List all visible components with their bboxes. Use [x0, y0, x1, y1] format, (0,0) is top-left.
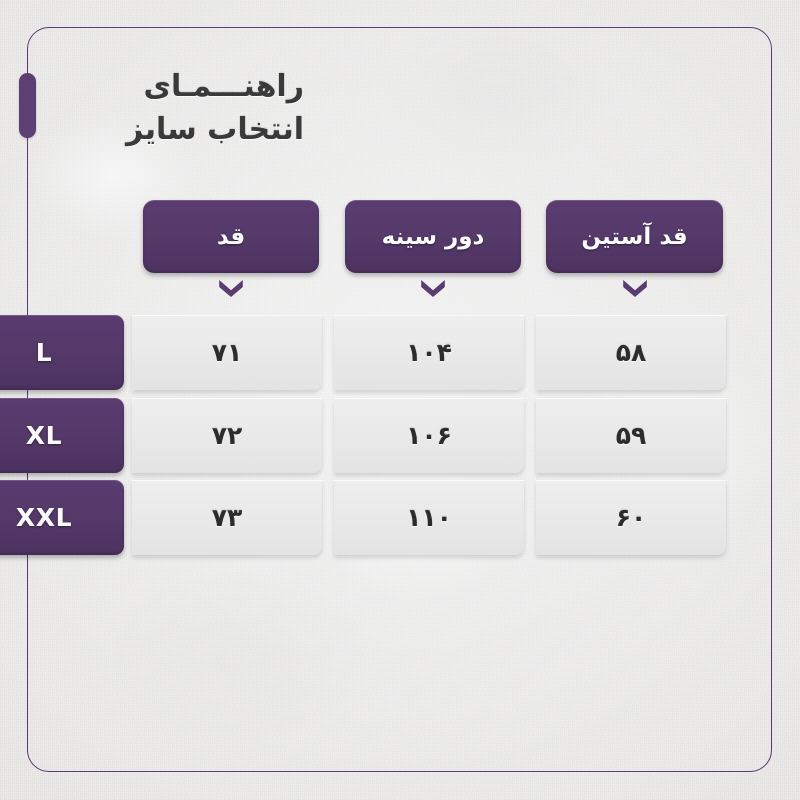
- table-cell: ۱۱۰: [334, 480, 524, 555]
- cell-value: ۷۱: [212, 338, 243, 367]
- column-header-label: قد آستین: [581, 224, 687, 250]
- size-label-text: L: [36, 338, 71, 367]
- size-label-xl: XL: [0, 398, 124, 473]
- cell-value: ۱۰۶: [406, 421, 452, 450]
- size-label-xxl: XXL: [0, 480, 124, 555]
- cell-value: ۷۲: [212, 421, 243, 450]
- chevron-down-icon: [418, 276, 448, 298]
- size-guide-infographic: راهنـــمـای انتخاب سایز قد دور سینه قد آ…: [0, 0, 800, 800]
- cell-value: ۶۰: [616, 503, 647, 532]
- frame-accent-bar: [19, 73, 36, 138]
- column-header-label: قد: [217, 224, 245, 250]
- table-cell: ۶۰: [536, 480, 726, 555]
- table-cell: ۵۹: [536, 398, 726, 473]
- size-label-text: XXL: [16, 503, 90, 532]
- size-label-l: L: [0, 315, 124, 390]
- table-cell: ۷۳: [132, 480, 322, 555]
- column-header-sleeve: قد آستین: [546, 200, 723, 273]
- cell-value: ۵۸: [616, 338, 647, 367]
- table-cell: ۵۸: [536, 315, 726, 390]
- cell-value: ۱۰۴: [406, 338, 452, 367]
- cell-value: ۱۱۰: [406, 503, 452, 532]
- table-cell: ۷۲: [132, 398, 322, 473]
- column-header-length: قد: [143, 200, 319, 273]
- column-header-label: دور سینه: [382, 224, 485, 250]
- table-cell: ۱۰۴: [334, 315, 524, 390]
- page-title-line-1: راهنـــمـای: [126, 66, 304, 109]
- column-header-chest: دور سینه: [345, 200, 521, 273]
- page-title-line-2: انتخاب سایز: [126, 109, 304, 152]
- table-cell: ۷۱: [132, 315, 322, 390]
- chevron-down-icon: [216, 276, 246, 298]
- chevron-down-icon: [620, 276, 650, 298]
- cell-value: ۷۳: [212, 503, 243, 532]
- size-label-text: XL: [26, 421, 80, 450]
- cell-value: ۵۹: [616, 421, 647, 450]
- page-title: راهنـــمـای انتخاب سایز: [126, 66, 304, 151]
- table-cell: ۱۰۶: [334, 398, 524, 473]
